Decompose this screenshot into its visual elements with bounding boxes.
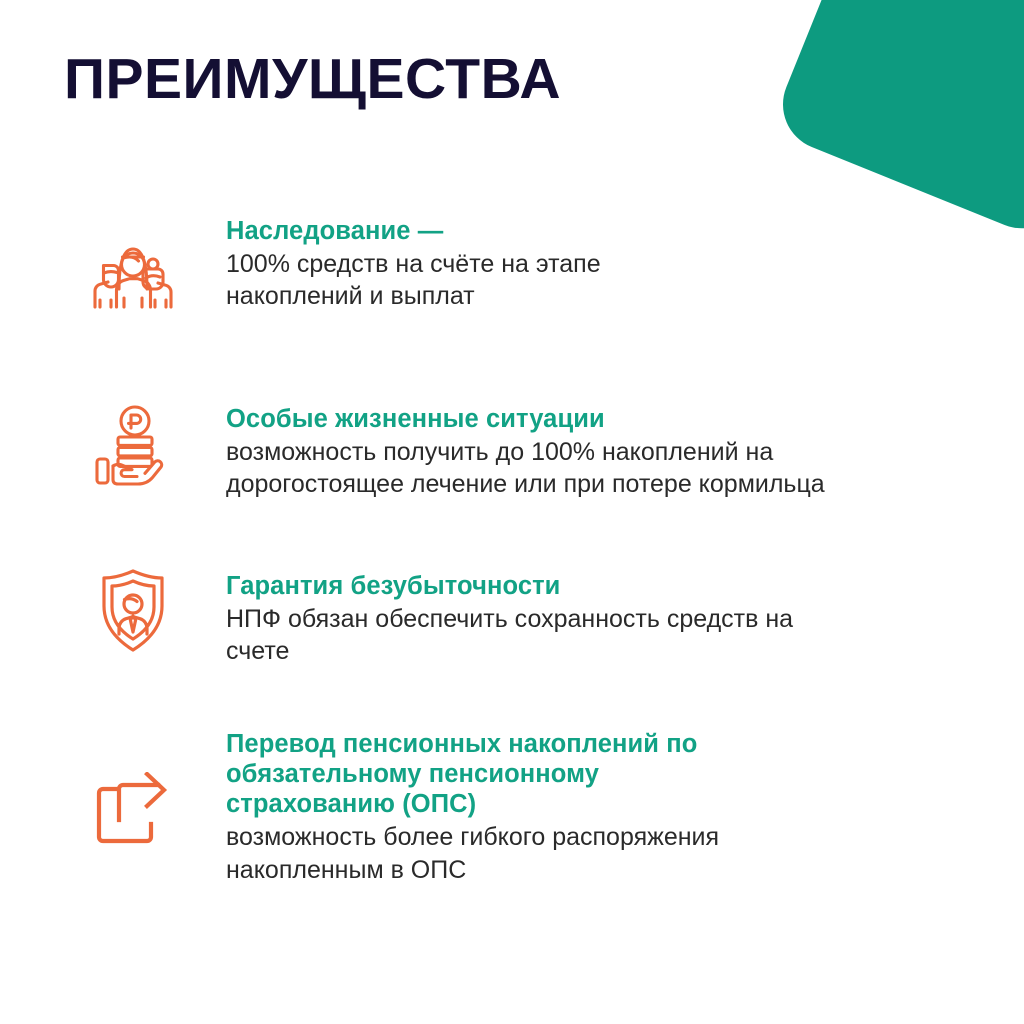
hand-holding-coins-ruble-icon [86,402,180,496]
item-text-block: Особые жизненные ситуации возможность по… [180,394,1024,501]
slide-canvas: ПРЕИМУЩЕСТВА [0,0,1024,1024]
list-item: Гарантия безубыточности НПФ обязан обесп… [0,561,1024,668]
page-title: ПРЕИМУЩЕСТВА [64,51,561,108]
list-item: Наследование — 100% средств на счёте на … [0,206,1024,320]
item-heading: Перевод пенсионных накоплений по обязате… [226,729,756,819]
item-body: возможность более гибкого распоряжения н… [226,821,806,886]
item-body: НПФ обязан обеспечить сохранность средст… [226,603,806,668]
item-heading: Особые жизненные ситуации [226,404,1024,434]
list-item: Особые жизненные ситуации возможность по… [0,394,1024,501]
item-body: возможность получить до 100% накоплений … [226,436,826,501]
shield-person-icon [86,565,180,659]
item-text-block: Наследование — 100% средств на счёте на … [180,206,1024,313]
item-heading: Наследование — [226,216,1024,246]
list-item: Перевод пенсионных накоплений по обязате… [0,719,1024,886]
item-body: 100% средств на счёте на этапе накоплени… [226,248,656,313]
item-text-block: Перевод пенсионных накоплений по обязате… [180,719,1024,886]
item-text-block: Гарантия безубыточности НПФ обязан обесп… [180,561,1024,668]
item-heading: Гарантия безубыточности [226,571,1024,601]
export-arrow-icon [86,767,180,861]
advantages-list: Наследование — 100% средств на счёте на … [0,206,1024,886]
family-icon [86,226,180,320]
